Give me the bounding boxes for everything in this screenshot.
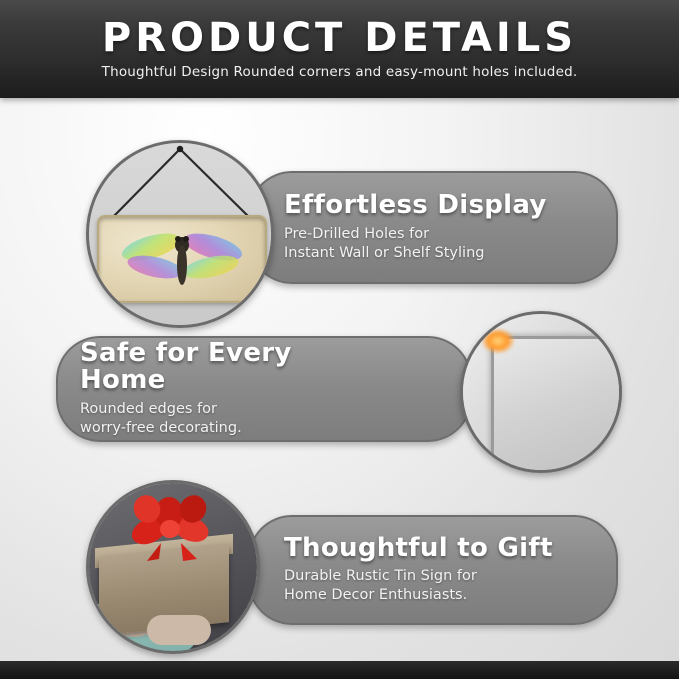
bottom-strip [0,661,679,679]
feature-line: Home Decor Enthusiasts. [284,586,598,605]
feature-image-dragonfly-sign [86,140,274,328]
feature-title: Effortless Display [284,192,598,219]
feature-line: Pre-Drilled Holes for [284,225,598,244]
feature-line: Durable Rustic Tin Sign for [284,567,598,586]
red-bow-icon [117,491,227,561]
page-subtitle: Thoughtful Design Rounded corners and ea… [102,66,578,80]
poster-header: PRODUCT DETAILS Thoughtful Design Rounde… [0,0,679,98]
feature-card-effortless-display: Effortless Display Pre-Drilled Holes for… [248,171,618,284]
feature-title: Thoughtful to Gift [284,535,598,562]
feature-line: Rounded edges for [80,400,320,419]
feature-line: Instant Wall or Shelf Styling [284,244,598,263]
feature-card-safe-for-every-home: Safe for Every Home Rounded edges for wo… [56,336,472,442]
feature-image-gift-box [86,480,260,654]
page-title: PRODUCT DETAILS [102,18,577,58]
dragonfly-icon [99,217,265,301]
feature-image-rounded-corner [460,311,622,473]
fingers-shape [147,615,211,645]
metal-plate-shape [491,336,622,473]
feature-title: Safe for Every Home [80,340,320,395]
corner-highlight-glow [481,328,515,354]
tin-sign-artwork [97,215,267,303]
product-details-poster: PRODUCT DETAILS Thoughtful Design Rounde… [0,0,679,679]
feature-line: worry-free decorating. [80,419,320,438]
feature-card-thoughtful-to-gift: Thoughtful to Gift Durable Rustic Tin Si… [248,515,618,625]
